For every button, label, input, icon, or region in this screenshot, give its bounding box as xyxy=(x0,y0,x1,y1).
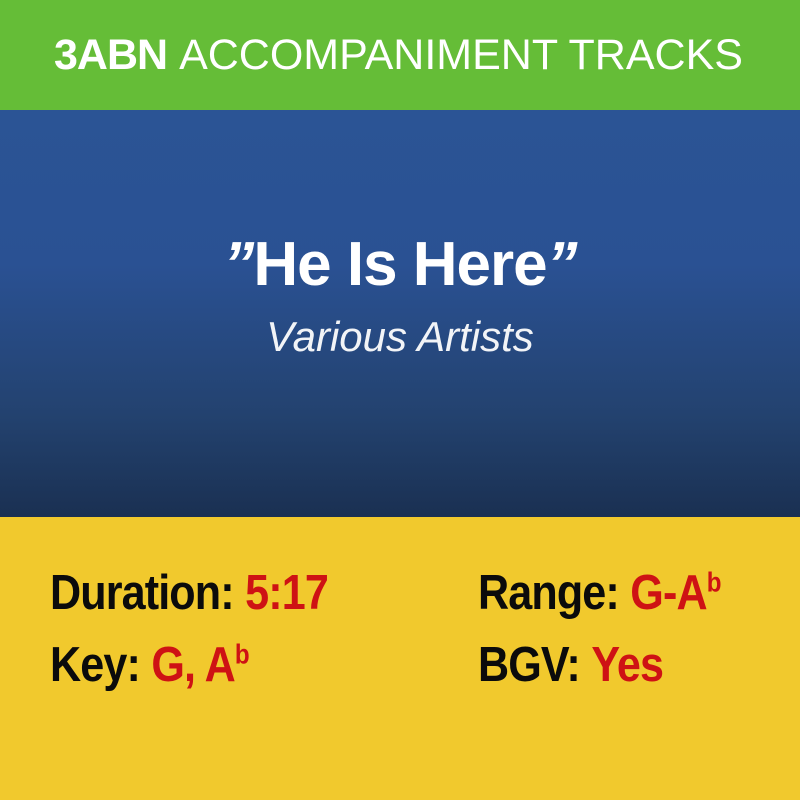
detail-range-value-text: G-A xyxy=(630,566,706,620)
song-title-text: He Is Here xyxy=(253,230,546,299)
detail-bgv-label: BGV: xyxy=(478,641,580,690)
track-details-section: Duration: 5:17 Range: G-Ab Key: G, Ab BG… xyxy=(0,517,800,800)
open-quote-mark: ” xyxy=(223,232,253,297)
detail-key-label: Key: xyxy=(50,641,140,690)
detail-range-flat-symbol: b xyxy=(707,567,721,598)
detail-range-label: Range: xyxy=(478,569,619,618)
detail-key-flat-symbol: b xyxy=(235,639,249,670)
detail-duration-value-text: 5:17 xyxy=(245,566,328,620)
hero-section: ”He Is Here” Various Artists xyxy=(0,110,800,517)
detail-key-value-text: G, A xyxy=(151,638,235,692)
brand-title: 3ABN ACCOMPANIMENT TRACKS xyxy=(54,34,743,77)
track-info-card: 3ABN ACCOMPANIMENT TRACKS ”He Is Here” V… xyxy=(0,0,800,800)
track-details-grid: Duration: 5:17 Range: G-Ab Key: G, Ab BG… xyxy=(50,569,800,713)
close-quote-mark: ” xyxy=(547,232,577,297)
song-title: ”He Is Here” xyxy=(223,232,576,297)
song-artist: Various Artists xyxy=(266,313,534,361)
detail-range: Range: G-Ab xyxy=(478,569,761,618)
detail-range-value: G-Ab xyxy=(630,569,720,618)
detail-duration-label: Duration: xyxy=(50,569,234,618)
brand-name: 3ABN xyxy=(54,34,167,77)
detail-bgv-value: Yes xyxy=(591,641,663,690)
detail-bgv: BGV: Yes xyxy=(478,641,761,690)
detail-duration-value: 5:17 xyxy=(245,569,328,618)
detail-bgv-value-text: Yes xyxy=(591,638,663,692)
detail-key: Key: G, Ab xyxy=(50,641,427,690)
brand-section-label: ACCOMPANIMENT TRACKS xyxy=(179,34,743,77)
header-banner: 3ABN ACCOMPANIMENT TRACKS xyxy=(0,0,800,110)
detail-duration: Duration: 5:17 xyxy=(50,569,427,618)
detail-key-value: G, Ab xyxy=(151,641,248,690)
